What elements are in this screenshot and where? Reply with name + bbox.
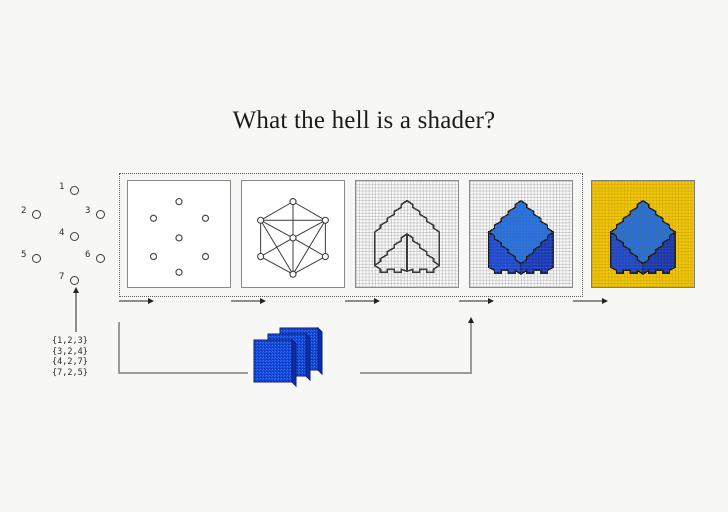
triangle-index-line-1: {1,2,3} [52, 336, 88, 346]
vertex-label-1: 1 [59, 182, 64, 192]
vertices-graphic [128, 181, 230, 287]
bracket-right-arm [470, 322, 472, 374]
vertex-node-7 [70, 276, 79, 285]
wireframe-panel [241, 180, 345, 288]
wireframe-graphic [242, 181, 344, 287]
page-title: What the hell is a shader? [0, 107, 728, 135]
pixel-grid [592, 181, 694, 287]
rasterized-outline-panel [355, 180, 459, 288]
vertex-label-3: 3 [85, 206, 90, 216]
vertex-node-3 [96, 210, 105, 219]
index-to-vertices-arrow [75, 292, 77, 332]
pipeline-arrow-1 [119, 300, 149, 302]
pipeline-arrow-5 [573, 300, 603, 302]
vertex-label-7: 7 [59, 272, 64, 282]
vertex-cloud: 1 2 3 4 5 6 7 [18, 184, 116, 282]
pixel-grid [470, 181, 572, 287]
triangle-index-line-2: {3,2,4} [52, 347, 88, 357]
rasterized-outline-graphic [356, 181, 458, 287]
vertex-node-1 [70, 186, 79, 195]
vertex-label-5: 5 [21, 250, 26, 260]
vertex-node-4 [70, 232, 79, 241]
pipeline-arrow-3 [345, 300, 375, 302]
vertex-node-2 [32, 210, 41, 219]
shader-program-stack [250, 322, 360, 394]
pipeline-arrow-4 [459, 300, 489, 302]
vertex-label-2: 2 [21, 206, 26, 216]
vertex-node-6 [96, 254, 105, 263]
shaded-cube-panel [469, 180, 573, 288]
slide-canvas: What the hell is a shader? 1 2 3 4 5 6 7… [0, 0, 728, 512]
shader-cards-graphic [250, 322, 360, 394]
triangle-index-line-3: {4,2,7} [52, 357, 88, 367]
pipeline-arrow-2 [231, 300, 261, 302]
final-framebuffer-panel [591, 180, 695, 288]
vertices-panel [127, 180, 231, 288]
vertex-label-6: 6 [85, 250, 90, 260]
vertex-node-5 [32, 254, 41, 263]
vertex-label-4: 4 [59, 228, 64, 238]
bracket-left-arm [118, 322, 120, 374]
triangle-index-line-4: {7,2,5} [52, 368, 88, 378]
triangle-index-list: {1,2,3} {3,2,4} {4,2,7} {7,2,5} [52, 336, 88, 378]
